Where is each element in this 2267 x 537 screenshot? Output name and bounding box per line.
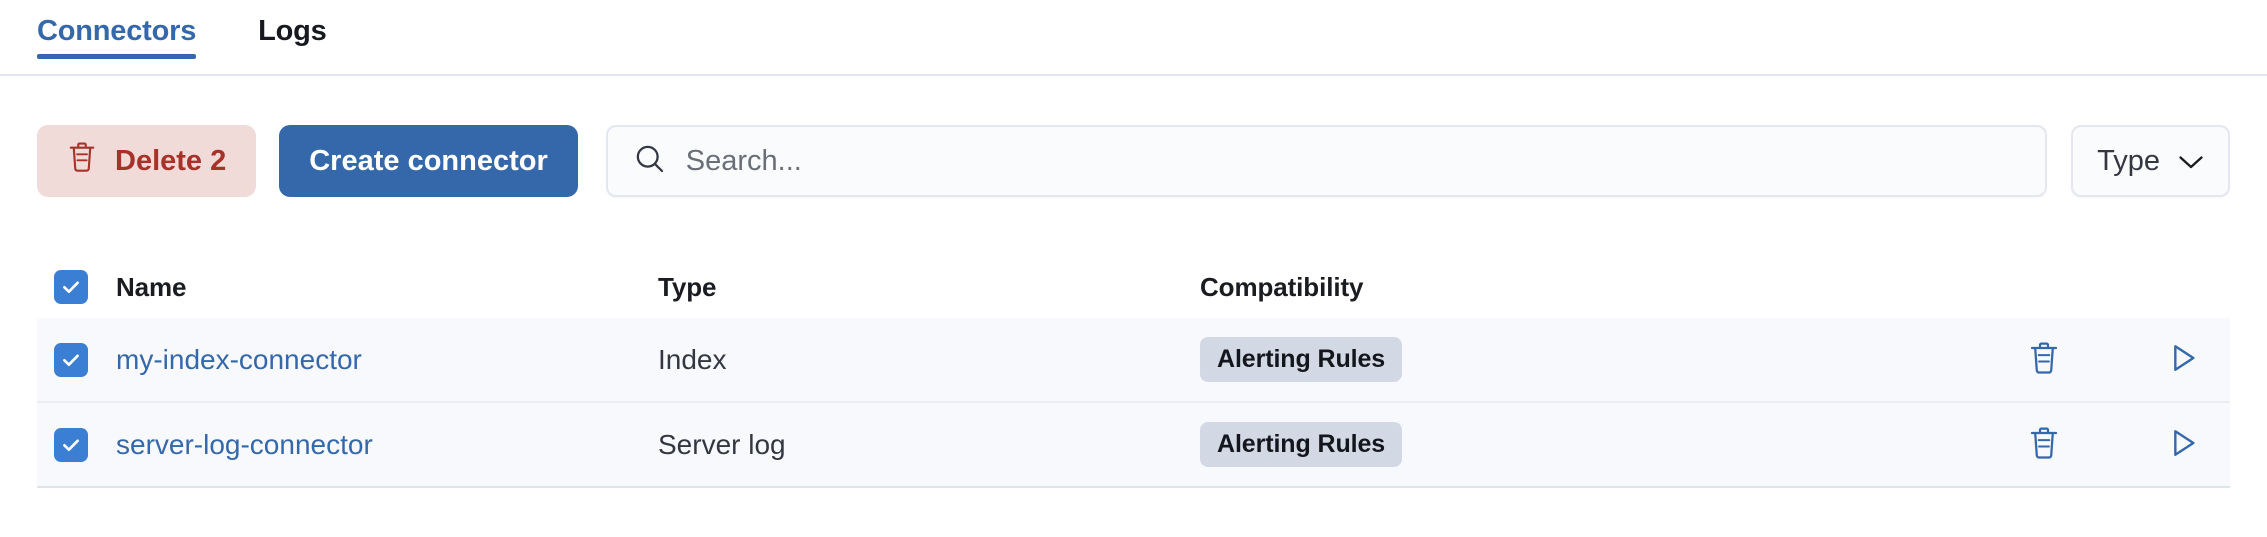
delete-row-button[interactable] [2020, 421, 2068, 469]
play-icon [2169, 427, 2199, 462]
create-connector-label: Create connector [309, 145, 548, 178]
delete-row-button[interactable] [2020, 336, 2068, 384]
table-row: server-log-connector Server log Alerting… [37, 403, 2230, 488]
compatibility-badge: Alerting Rules [1200, 422, 1402, 467]
search-field[interactable] [606, 125, 2047, 197]
compatibility-badge: Alerting Rules [1200, 337, 1402, 382]
cell-compatibility: Alerting Rules [1200, 337, 2020, 382]
row-actions [2020, 421, 2230, 469]
cell-name: my-index-connector [116, 344, 658, 376]
create-connector-button[interactable]: Create connector [279, 125, 578, 197]
search-input[interactable] [686, 127, 2019, 195]
chevron-down-icon [2178, 145, 2204, 178]
trash-icon [2028, 425, 2060, 464]
column-header-compatibility[interactable]: Compatibility [1200, 272, 2020, 303]
cell-type: Index [658, 344, 1200, 376]
run-row-button[interactable] [2160, 421, 2208, 469]
cell-name: server-log-connector [116, 429, 658, 461]
select-all-checkbox[interactable] [54, 270, 88, 304]
play-icon [2169, 342, 2199, 377]
connector-name-link[interactable]: my-index-connector [116, 344, 362, 375]
cell-compatibility: Alerting Rules [1200, 422, 2020, 467]
trash-icon [2028, 340, 2060, 379]
connectors-table: Name Type Compatibility my-index-connect… [37, 256, 2230, 488]
table-row: my-index-connector Index Alerting Rules [37, 318, 2230, 403]
row-checkbox[interactable] [54, 428, 88, 462]
select-all-cell [54, 270, 116, 304]
tab-logs[interactable]: Logs [258, 0, 326, 46]
cell-type: Server log [658, 429, 1200, 461]
trash-icon [67, 140, 97, 182]
column-header-name[interactable]: Name [116, 272, 658, 303]
tab-bar: Connectors Logs [0, 0, 2267, 76]
tab-logs-label: Logs [258, 15, 326, 47]
search-icon [634, 143, 666, 180]
toolbar: Delete 2 Create connector Type [37, 125, 2230, 197]
tab-connectors[interactable]: Connectors [37, 0, 196, 46]
row-select-cell [54, 343, 116, 377]
delete-button[interactable]: Delete 2 [37, 125, 256, 197]
connector-name-link[interactable]: server-log-connector [116, 429, 373, 460]
connectors-page: Connectors Logs Delete 2 Create connecto… [0, 0, 2267, 537]
run-row-button[interactable] [2160, 336, 2208, 384]
delete-button-label: Delete 2 [115, 145, 226, 178]
row-actions [2020, 336, 2230, 384]
tab-connectors-label: Connectors [37, 15, 196, 47]
row-checkbox[interactable] [54, 343, 88, 377]
type-filter-dropdown[interactable]: Type [2071, 125, 2230, 197]
column-header-type[interactable]: Type [658, 272, 1200, 303]
table-header-row: Name Type Compatibility [37, 256, 2230, 318]
row-select-cell [54, 428, 116, 462]
type-filter-label: Type [2097, 145, 2160, 178]
